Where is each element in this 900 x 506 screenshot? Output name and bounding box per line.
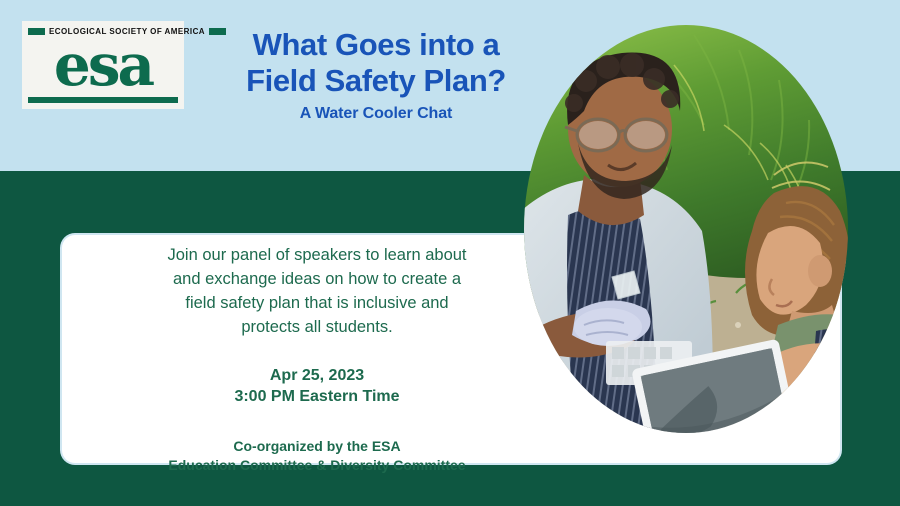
logo-rule-divider: [28, 97, 178, 103]
event-time: 3:00 PM Eastern Time: [234, 388, 399, 405]
organizer-credit: Co-organized by the ESA Education Commit…: [82, 437, 552, 475]
page-title-line2: Field Safety Plan?: [196, 63, 556, 99]
webinar-poster: ECOLOGICAL SOCIETY OF AMERICA esa What G…: [0, 0, 900, 506]
details-card-content: Join our panel of speakers to learn abou…: [82, 243, 552, 475]
description-text: Join our panel of speakers to learn abou…: [82, 243, 552, 339]
field-researchers-photo: [524, 25, 848, 433]
header-block: What Goes into a Field Safety Plan? A Wa…: [196, 27, 556, 123]
description-line-3: field safety plan that is inclusive and: [185, 294, 448, 312]
description-line-2: and exchange ideas on how to create a: [173, 270, 461, 288]
organizer-line-2: Education Committee & Diversity Committe…: [168, 457, 465, 473]
page-title-line1: What Goes into a: [196, 27, 556, 63]
description-line-4: protects all students.: [241, 318, 392, 336]
page-subtitle: A Water Cooler Chat: [196, 105, 556, 123]
organizer-line-1: Co-organized by the ESA: [233, 438, 400, 454]
logo-wordmark: esa: [28, 33, 178, 97]
event-date: Apr 25, 2023: [270, 367, 364, 384]
esa-logo: ECOLOGICAL SOCIETY OF AMERICA esa: [22, 21, 184, 109]
logo-wordmark-text: esa: [54, 37, 152, 93]
event-datetime: Apr 25, 2023 3:00 PM Eastern Time: [82, 365, 552, 407]
description-line-1: Join our panel of speakers to learn abou…: [167, 246, 466, 264]
